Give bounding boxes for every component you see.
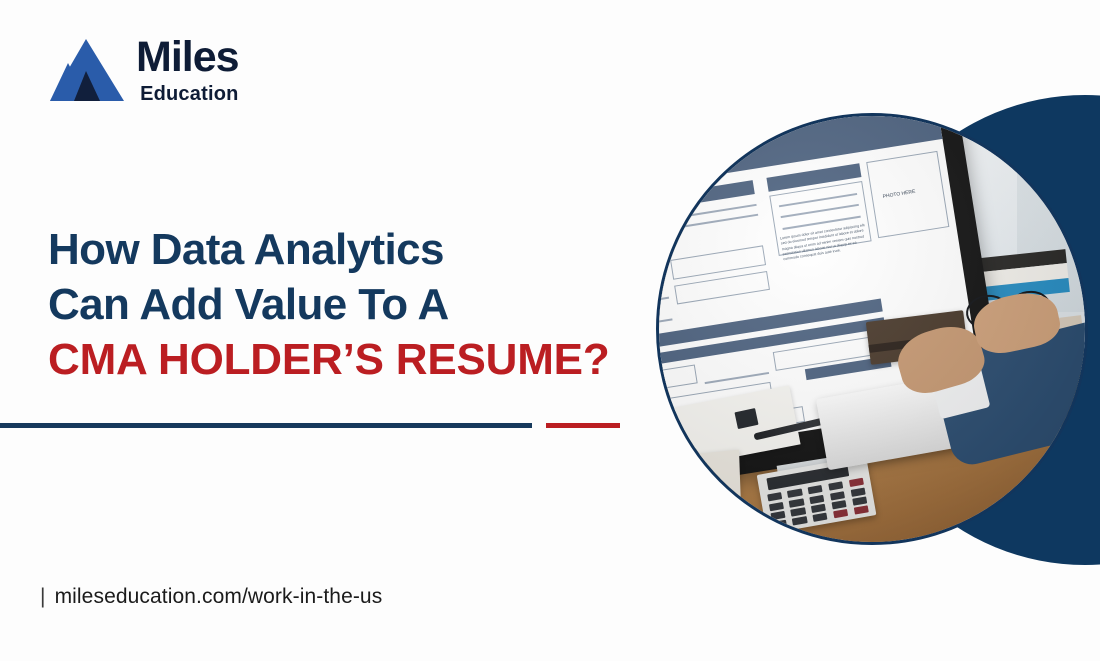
resume-paragraph: Lorem ipsum dolor sit amet consectetur a… bbox=[780, 223, 874, 294]
resume-section-bar bbox=[659, 244, 670, 266]
headline-line-2: Can Add Value To A bbox=[48, 277, 648, 332]
footer-url-text[interactable]: mileseducation.com/work-in-the-us bbox=[55, 585, 383, 609]
divider-navy-segment bbox=[0, 423, 532, 428]
promo-banner: Miles Education How Data Analytics Can A… bbox=[0, 0, 1100, 661]
brand-logo[interactable]: Miles Education bbox=[48, 36, 239, 104]
hero-photo-circle: RESUME PHOTO HERE Lorem ipsu bbox=[656, 113, 1088, 545]
brand-name: Miles bbox=[136, 36, 239, 79]
footer-separator: | bbox=[40, 585, 46, 609]
headline-line-3: CMA HOLDER’S RESUME? bbox=[48, 332, 648, 387]
artwork-area: RESUME PHOTO HERE Lorem ipsu bbox=[600, 0, 1100, 661]
page-title: How Data Analytics Can Add Value To A CM… bbox=[48, 222, 648, 387]
footer-url[interactable]: | mileseducation.com/work-in-the-us bbox=[40, 585, 382, 609]
mountain-logo-icon bbox=[48, 37, 126, 103]
brand-wordmark: Miles Education bbox=[136, 36, 239, 104]
hero-photo: RESUME PHOTO HERE Lorem ipsu bbox=[659, 116, 1085, 542]
brand-tagline: Education bbox=[140, 84, 238, 104]
small-box bbox=[675, 449, 740, 503]
headline-line-1: How Data Analytics bbox=[48, 222, 648, 277]
